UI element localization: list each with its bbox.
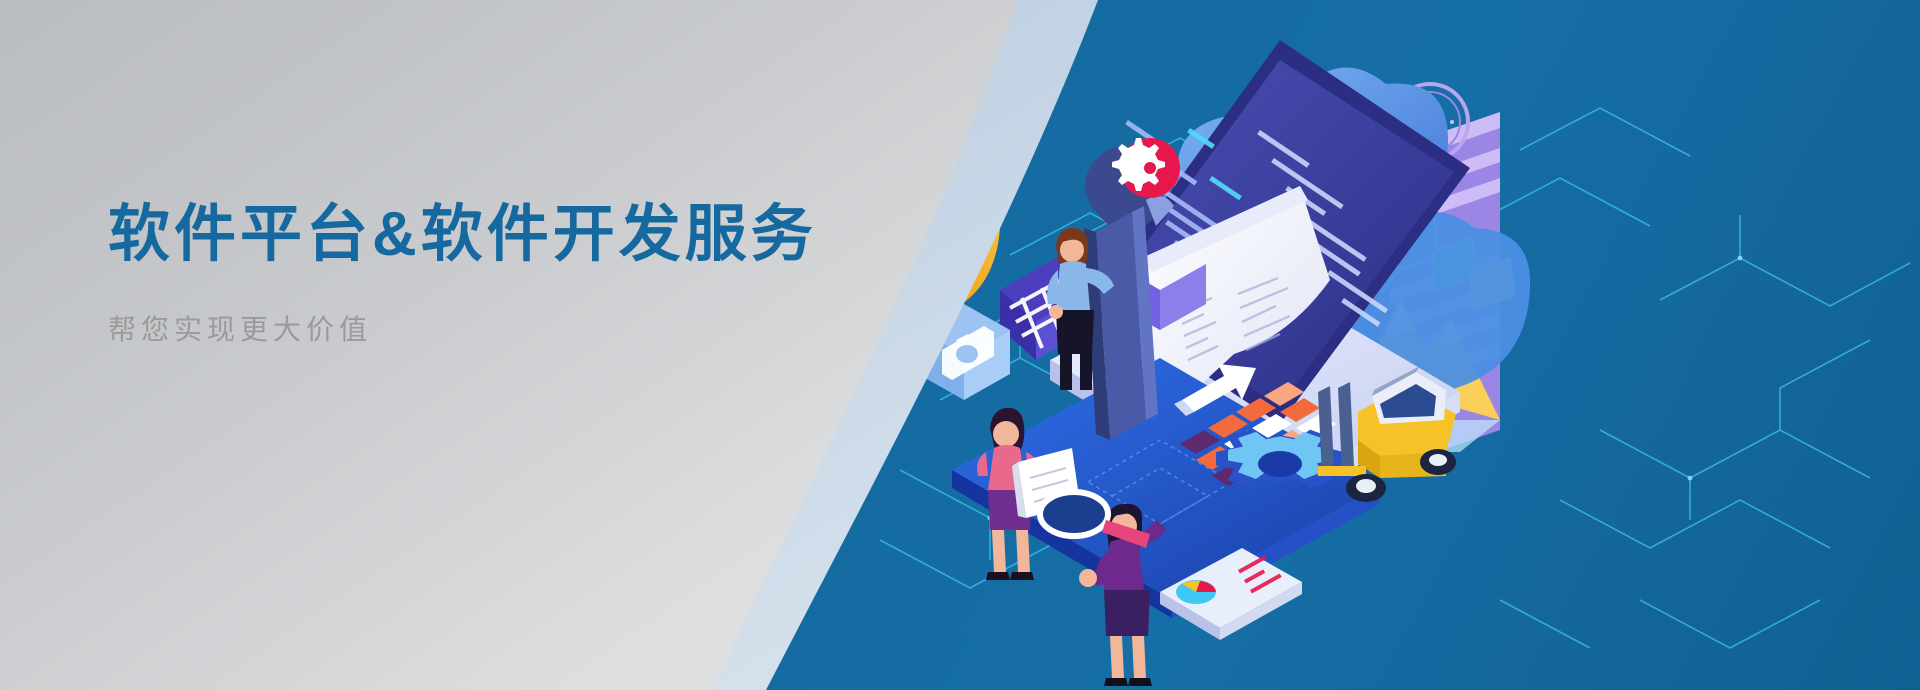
hero-banner: 软件平台&软件开发服务 帮您实现更大价值 bbox=[0, 0, 1920, 690]
page-title: 软件平台&软件开发服务 bbox=[108, 200, 868, 269]
page-subtitle: 帮您实现更大价值 bbox=[108, 313, 868, 347]
banner-copy: 软件平台&软件开发服务 帮您实现更大价值 bbox=[108, 200, 868, 347]
